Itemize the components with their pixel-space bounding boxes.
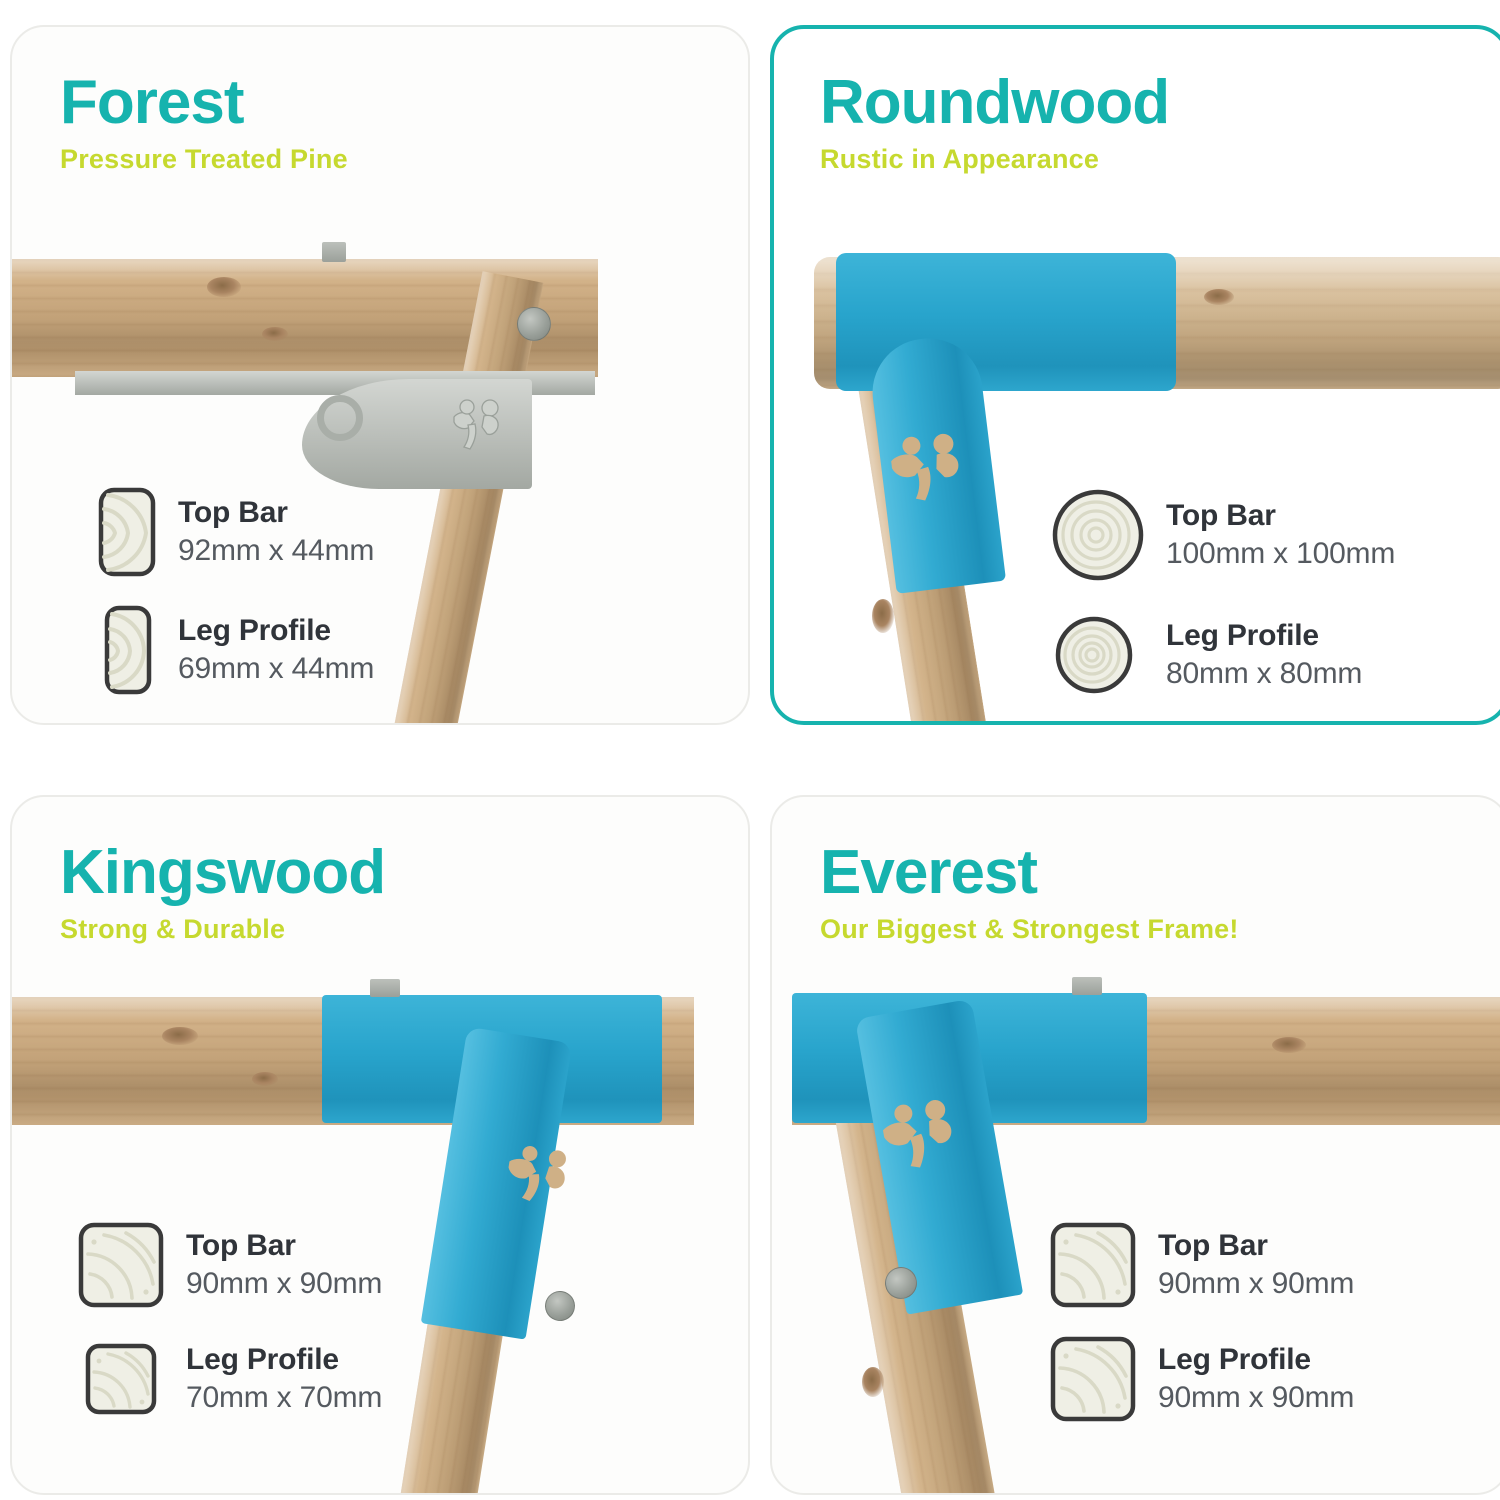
spec-label: Leg Profile <box>186 1341 382 1379</box>
spec-dimensions: 90mm x 90mm <box>1158 1378 1354 1417</box>
profile-icon-circle <box>1052 489 1144 581</box>
top-bolt <box>1072 977 1102 995</box>
person-logo-icon <box>498 1137 579 1210</box>
card-subtitle: Strong & Durable <box>60 914 385 945</box>
spec-dimensions: 90mm x 90mm <box>1158 1264 1354 1303</box>
spec-dimensions: 70mm x 70mm <box>186 1378 382 1417</box>
spec-label: Top Bar <box>186 1227 382 1265</box>
top-bar-timber-round <box>814 257 1500 389</box>
connector-sleeve-vertical <box>866 332 1006 594</box>
spec-list: Top Bar 90mm x 90mm Leg <box>78 1222 382 1422</box>
spec-list: Top Bar 92mm x 44mm Leg Profile 69mm x 4… <box>98 487 374 695</box>
spec-list: Top Bar 100mm x 100mm Leg Profile 8 <box>1052 489 1395 701</box>
spec-row: Top Bar 100mm x 100mm <box>1052 489 1395 581</box>
spec-dimensions: 90mm x 90mm <box>186 1264 382 1303</box>
spec-text: Top Bar 100mm x 100mm <box>1166 497 1395 574</box>
connector-sleeve-horizontal <box>836 253 1176 391</box>
spec-label: Top Bar <box>178 494 374 532</box>
card-roundwood[interactable]: Roundwood Rustic in Appearance Top Bar 1… <box>770 25 1500 725</box>
profile-icon-square <box>1050 1336 1136 1422</box>
card-header: Forest Pressure Treated Pine <box>60 71 348 175</box>
spec-text: Top Bar 92mm x 44mm <box>178 494 374 571</box>
spec-dimensions: 92mm x 44mm <box>178 531 374 570</box>
spec-text: Top Bar 90mm x 90mm <box>186 1227 382 1304</box>
spec-text: Leg Profile 80mm x 80mm <box>1166 617 1362 694</box>
card-title: Kingswood <box>60 841 385 904</box>
spec-text: Top Bar 90mm x 90mm <box>1158 1227 1354 1304</box>
spec-dimensions: 100mm x 100mm <box>1166 534 1395 573</box>
frame-comparison-grid: Forest Pressure Treated Pine Top Bar 92m… <box>0 0 1500 1500</box>
profile-icon-square <box>1050 1222 1136 1308</box>
top-bolt <box>322 242 346 262</box>
profile-icon-rounded-rectangle <box>98 487 156 577</box>
connector-bracket-horizontal <box>792 993 1147 1123</box>
card-kingswood[interactable]: Kingswood Strong & Durable Top Ba <box>10 795 750 1495</box>
leg-bolt <box>517 307 551 341</box>
profile-icon-rounded-rectangle <box>98 605 156 695</box>
spec-label: Top Bar <box>1166 497 1395 535</box>
spec-label: Top Bar <box>1158 1227 1354 1265</box>
spec-text: Leg Profile 69mm x 44mm <box>178 612 374 689</box>
profile-icon-circle <box>1052 609 1144 701</box>
spec-row: Leg Profile 90mm x 90mm <box>1050 1336 1354 1422</box>
spec-text: Leg Profile 70mm x 70mm <box>186 1341 382 1418</box>
spec-dimensions: 80mm x 80mm <box>1166 654 1362 693</box>
spec-row: Leg Profile 69mm x 44mm <box>98 605 374 695</box>
person-logo-icon <box>880 424 974 508</box>
wood-knot <box>862 1367 884 1397</box>
card-title: Forest <box>60 71 348 134</box>
wood-knot <box>252 1072 278 1086</box>
spec-row: Top Bar 92mm x 44mm <box>98 487 374 577</box>
connector-bracket-horizontal <box>322 995 662 1123</box>
card-title: Roundwood <box>820 71 1169 134</box>
top-bolt <box>370 979 400 997</box>
card-header: Roundwood Rustic in Appearance <box>820 71 1169 175</box>
spec-text: Leg Profile 90mm x 90mm <box>1158 1341 1354 1418</box>
wood-knot <box>162 1027 198 1045</box>
leg-timber <box>397 1091 539 1495</box>
wood-knot <box>872 599 894 633</box>
card-forest[interactable]: Forest Pressure Treated Pine Top Bar 92m… <box>10 25 750 725</box>
leg-timber <box>393 271 544 725</box>
top-bar-timber <box>792 997 1500 1125</box>
bracket-gusset <box>302 379 532 489</box>
spec-label: Leg Profile <box>178 612 374 650</box>
card-subtitle: Pressure Treated Pine <box>60 144 348 175</box>
swing-ring <box>317 395 363 441</box>
leg-bolt <box>543 1289 577 1323</box>
leg-timber-round <box>854 353 990 725</box>
card-subtitle: Rustic in Appearance <box>820 144 1169 175</box>
spec-label: Leg Profile <box>1166 617 1362 655</box>
spec-row: Top Bar 90mm x 90mm <box>78 1222 382 1308</box>
leg-timber <box>833 1089 998 1495</box>
card-header: Kingswood Strong & Durable <box>60 841 385 945</box>
profile-icon-square <box>78 1222 164 1308</box>
card-everest[interactable]: Everest Our Biggest & Strongest Frame! <box>770 795 1500 1495</box>
connector-bracket-vertical <box>855 999 1023 1315</box>
card-subtitle: Our Biggest & Strongest Frame! <box>820 914 1239 945</box>
top-bar-timber <box>10 259 598 377</box>
bracket-plate <box>75 371 595 395</box>
spec-row: Leg Profile 70mm x 70mm <box>78 1336 382 1422</box>
profile-icon-square <box>78 1336 164 1422</box>
wood-knot <box>262 327 288 341</box>
wood-knot <box>207 277 241 297</box>
wood-knot <box>1204 289 1234 305</box>
spec-row: Top Bar 90mm x 90mm <box>1050 1222 1354 1308</box>
connector-bracket-vertical <box>421 1027 573 1340</box>
leg-bolt <box>882 1264 919 1301</box>
spec-dimensions: 69mm x 44mm <box>178 649 374 688</box>
person-logo-icon <box>444 395 506 453</box>
spec-list: Top Bar 90mm x 90mm Leg <box>1050 1222 1354 1422</box>
wood-knot <box>1272 1037 1306 1053</box>
spec-label: Leg Profile <box>1158 1341 1354 1379</box>
card-title: Everest <box>820 841 1239 904</box>
card-header: Everest Our Biggest & Strongest Frame! <box>820 841 1239 945</box>
spec-row: Leg Profile 80mm x 80mm <box>1052 609 1395 701</box>
person-logo-icon <box>871 1090 968 1176</box>
top-bar-timber <box>10 997 694 1125</box>
